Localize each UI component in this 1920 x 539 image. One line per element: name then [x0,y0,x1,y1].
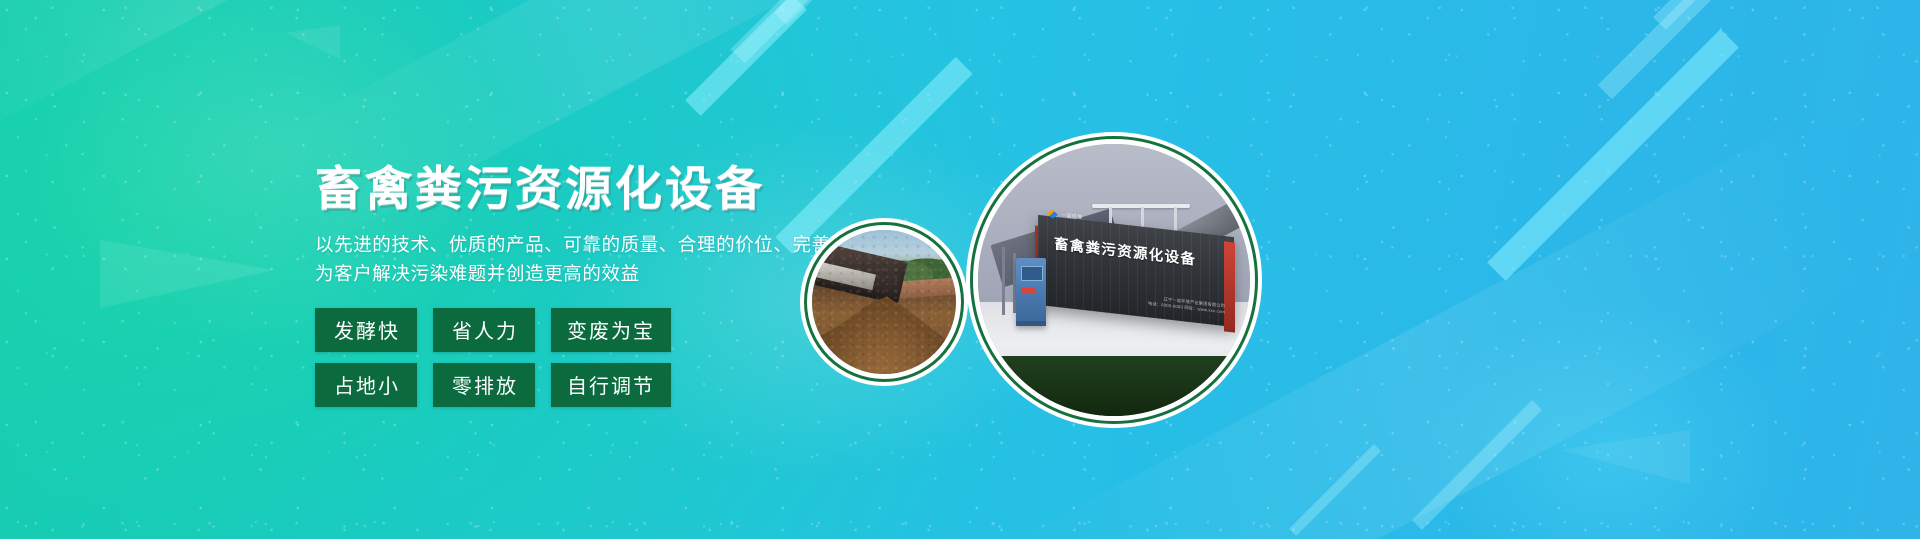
feature-tag-zixingtiaojie[interactable]: 自行调节 [551,363,671,407]
feature-tag-shengrenli[interactable]: 省人力 [433,308,535,352]
render-floor-dark-band [978,356,1250,416]
decor-bar-5 [1487,29,1739,281]
render-cabinet-screen [1021,266,1042,280]
compost-photo [812,230,956,374]
decor-bar-11 [1289,444,1381,536]
equipment-render-circle[interactable]: 一诺环境 畜禽粪污资源化设备 辽宁一诺环境产业集团有限公司 电话：0000-00… [978,144,1250,416]
render-cabinet-button [1021,288,1035,294]
render-unit-end-cap-right [1224,241,1235,332]
decor-bar-1 [685,0,807,116]
feature-tag-bianfeiweibao[interactable]: 变废为宝 [551,308,671,352]
render-conveyor-leg-3 [1002,247,1005,315]
banner-headline: 畜禽粪污资源化设备 [315,165,955,212]
compost-photo-circle[interactable] [812,230,956,374]
equipment-render: 一诺环境 畜禽粪污资源化设备 辽宁一诺环境产业集团有限公司 电话：0000-00… [978,144,1250,416]
diamond-logo-icon [1047,209,1058,219]
compost-texture-overlay [812,230,956,374]
render-logo-text: 一诺环境 [1061,211,1083,220]
decor-bar-6 [1598,0,1746,99]
feature-tag-lingpaifang[interactable]: 零排放 [433,363,535,407]
decor-bar-3 [774,0,854,25]
decor-bar-7 [1653,0,1765,30]
render-cabinet-base [1016,321,1046,326]
promo-banner: 畜禽粪污资源化设备 以先进的技术、优质的产品、可靠的质量、合理的价位、完善的服务… [0,0,1920,539]
feature-tag-fajiaokuai[interactable]: 发酵快 [315,308,417,352]
background-glow-right [1430,300,1790,539]
decor-bar-2 [731,0,830,63]
render-control-cabinet [1016,258,1046,326]
feature-tag-zhandixiao[interactable]: 占地小 [315,363,417,407]
